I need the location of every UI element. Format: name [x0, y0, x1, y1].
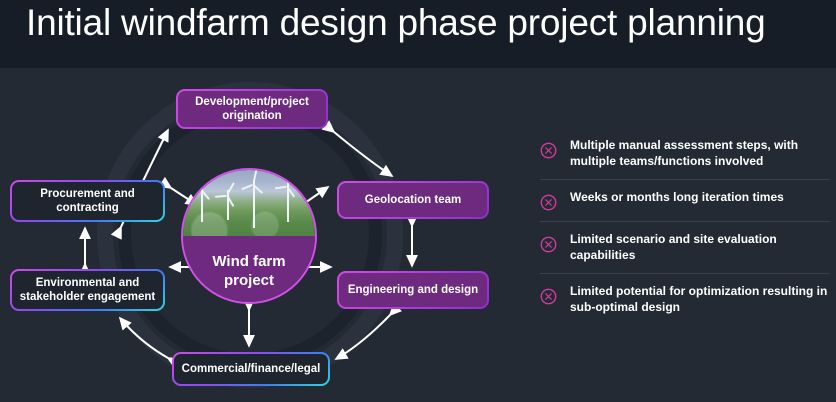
list-item: Limited potential for optimization resul…	[540, 273, 830, 325]
issue-text: Limited scenario and site evaluation cap…	[570, 231, 830, 263]
issue-text: Multiple manual assessment steps, with m…	[570, 137, 830, 169]
list-item: Multiple manual assessment steps, with m…	[540, 128, 830, 179]
node-development-label: Development/project origination	[178, 91, 326, 127]
circle-x-icon	[540, 142, 557, 159]
cycle-diagram: Wind farm project Development/project or…	[0, 68, 520, 402]
center-node-wind-farm: Wind farm project	[181, 168, 317, 304]
node-engineering[interactable]: Engineering and design	[337, 271, 489, 309]
center-label-line2: project	[224, 272, 274, 289]
issue-text: Limited potential for optimization resul…	[570, 283, 830, 315]
node-environmental[interactable]: Environmental and stakeholder engagement	[10, 269, 165, 311]
slide-canvas: Initial windfarm design phase project pl…	[0, 0, 836, 402]
node-commercial-label: Commercial/finance/legal	[174, 354, 328, 384]
list-item: Limited scenario and site evaluation cap…	[540, 221, 830, 273]
node-geolocation-label: Geolocation team	[339, 183, 487, 217]
node-geolocation[interactable]: Geolocation team	[337, 181, 489, 219]
node-procurement[interactable]: Procurement and contracting	[10, 180, 165, 222]
node-development[interactable]: Development/project origination	[176, 89, 328, 129]
center-node-label: Wind farm project	[183, 236, 315, 302]
header-band: Initial windfarm design phase project pl…	[0, 0, 836, 68]
node-commercial[interactable]: Commercial/finance/legal	[172, 352, 330, 386]
page-title: Initial windfarm design phase project pl…	[26, 2, 765, 44]
windfarm-photo	[183, 170, 315, 241]
node-procurement-label: Procurement and contracting	[12, 182, 163, 220]
issue-text: Weeks or months long iteration times	[570, 189, 784, 205]
node-environmental-label: Environmental and stakeholder engagement	[12, 271, 163, 309]
node-engineering-label: Engineering and design	[339, 273, 487, 307]
center-label-line1: Wind farm	[212, 253, 285, 270]
circle-x-icon	[540, 236, 557, 253]
circle-x-icon	[540, 194, 557, 211]
list-item: Weeks or months long iteration times	[540, 179, 830, 221]
circle-x-icon	[540, 288, 557, 305]
issues-list: Multiple manual assessment steps, with m…	[540, 128, 830, 325]
